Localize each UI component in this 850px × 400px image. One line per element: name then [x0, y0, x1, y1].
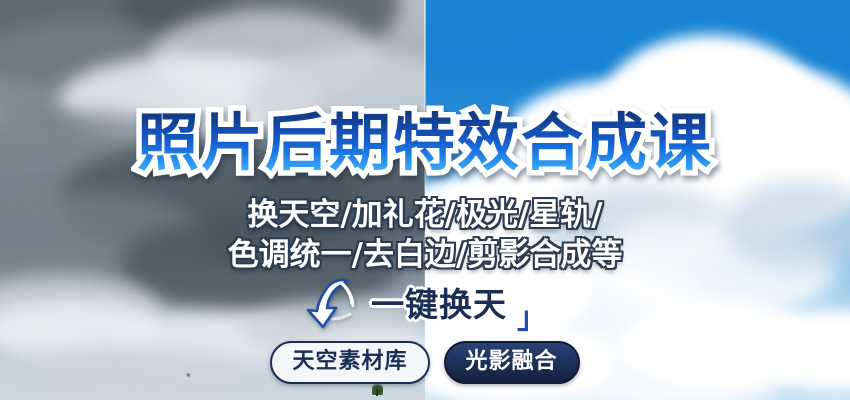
badge-light-shadow-blend[interactable]: 光影融合	[444, 341, 580, 384]
one-key-label: 一键换天	[371, 288, 507, 321]
promo-banner: 照片后期特效合成课 照片后期特效合成课 换天空/加礼花/极光/星轨/ 色调统一/…	[0, 0, 850, 400]
badge-sky-material-library[interactable]: 天空素材库	[270, 341, 429, 384]
page-title: 照片后期特效合成课 照片后期特效合成课	[0, 112, 850, 174]
curved-down-arrow-icon	[303, 277, 361, 331]
main-title-fill: 照片后期特效合成课	[137, 106, 713, 179]
main-title: 照片后期特效合成课 照片后期特效合成课	[137, 112, 713, 174]
corner-bracket-glyph: 」	[517, 293, 547, 337]
subtitle-line-1: 换天空/加礼花/极光/星轨/	[0, 200, 850, 231]
one-key-row: 一键换天 」	[0, 277, 850, 331]
badge-row: 天空素材库 光影融合	[0, 341, 850, 384]
banner-content: 照片后期特效合成课 照片后期特效合成课 换天空/加礼花/极光/星轨/ 色调统一/…	[0, 0, 850, 400]
subtitle-line-2: 色调统一/去白边/剪影合成等	[0, 240, 850, 271]
